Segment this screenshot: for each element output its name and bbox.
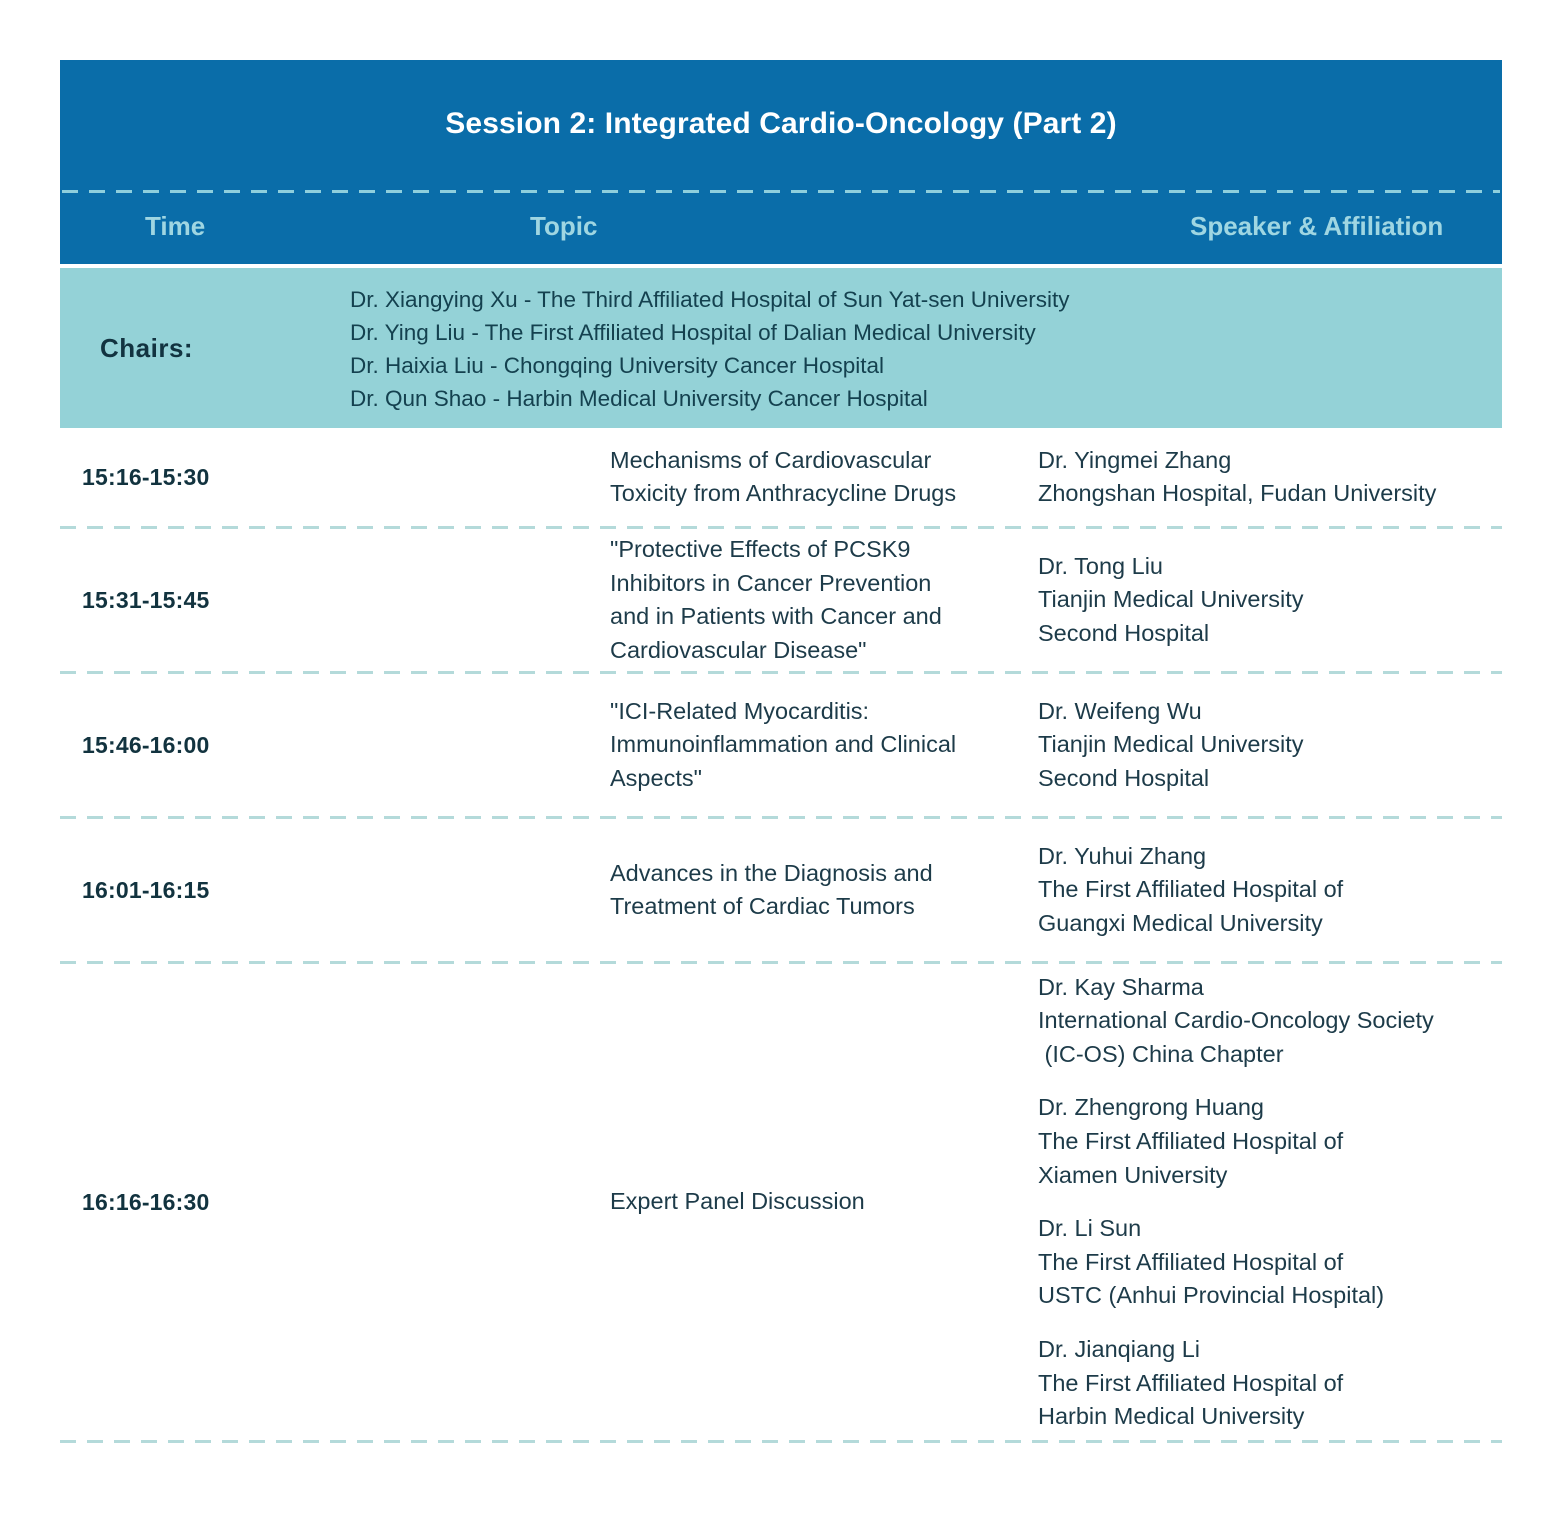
table-row: 16:01-16:15 Advances in the Diagnosis an…: [60, 819, 1502, 961]
row-topic: "ICI-Related Myocarditis: Immunoinflamma…: [335, 695, 1000, 796]
row-time: 15:31-15:45: [60, 587, 335, 614]
chairs-label-cell: Chairs:: [60, 333, 335, 364]
speaker-affiliation: Tianjin Medical University: [1038, 728, 1492, 762]
row-time: 16:16-16:30: [60, 1189, 335, 1216]
speaker-affiliation: Guangxi Medical University: [1038, 907, 1492, 941]
speaker-name: Dr. Weifeng Wu: [1038, 695, 1492, 729]
session-header: Session 2: Integrated Cardio-Oncology (P…: [60, 60, 1502, 264]
speaker-name: Dr. Yingmei Zhang: [1038, 444, 1492, 478]
speaker-affiliation: (IC-OS) China Chapter: [1038, 1038, 1492, 1072]
row-topic: Expert Panel Discussion: [335, 1185, 1000, 1219]
row-time: 15:16-15:30: [60, 464, 335, 491]
chair-item: Dr. Qun Shao - Harbin Medical University…: [350, 382, 1070, 415]
speaker-block: Dr. Yingmei Zhang Zhongshan Hospital, Fu…: [1038, 444, 1492, 511]
speaker-block: Dr. Tong Liu Tianjin Medical University …: [1038, 550, 1492, 651]
table-row: 16:16-16:30 Expert Panel Discussion Dr. …: [60, 964, 1502, 1440]
schedule-page: Session 2: Integrated Cardio-Oncology (P…: [0, 0, 1562, 1536]
column-header-time: Time: [60, 211, 335, 242]
session-schedule-table: Session 2: Integrated Cardio-Oncology (P…: [60, 60, 1502, 1443]
row-speaker-cell: Dr. Weifeng Wu Tianjin Medical Universit…: [1000, 695, 1502, 796]
row-topic: "Protective Effects of PCSK9 Inhibitors …: [335, 533, 1000, 667]
chair-item: Dr. Ying Liu - The First Affiliated Hosp…: [350, 316, 1070, 349]
page-title: Session 2: Integrated Cardio-Oncology (P…: [60, 60, 1502, 190]
chair-item: Dr. Xiangying Xu - The Third Affiliated …: [350, 283, 1070, 316]
speaker-name: Dr. Yuhui Zhang: [1038, 840, 1492, 874]
table-row: 15:31-15:45 "Protective Effects of PCSK9…: [60, 529, 1502, 671]
speaker-block: Dr. Kay Sharma International Cardio-Onco…: [1038, 971, 1492, 1072]
row-speaker-cell: Dr. Kay Sharma International Cardio-Onco…: [1000, 971, 1502, 1434]
speaker-affiliation: Tianjin Medical University: [1038, 583, 1492, 617]
speaker-name: Dr. Jianqiang Li: [1038, 1333, 1492, 1367]
speaker-block: Dr. Jianqiang Li The First Affiliated Ho…: [1038, 1333, 1492, 1434]
speaker-name: Dr. Kay Sharma: [1038, 971, 1492, 1005]
chairs-label: Chairs:: [60, 333, 335, 364]
row-topic: Mechanisms of Cardiovascular Toxicity fr…: [335, 444, 1000, 511]
speaker-affiliation: International Cardio-Oncology Society: [1038, 1004, 1492, 1038]
speaker-name: Dr. Li Sun: [1038, 1212, 1492, 1246]
row-speaker-cell: Dr. Yingmei Zhang Zhongshan Hospital, Fu…: [1000, 444, 1502, 511]
row-speaker-cell: Dr. Yuhui Zhang The First Affiliated Hos…: [1000, 840, 1502, 941]
row-divider: [60, 1440, 1502, 1443]
row-topic: Advances in the Diagnosis and Treatment …: [335, 857, 1000, 924]
speaker-block: Dr. Weifeng Wu Tianjin Medical Universit…: [1038, 695, 1492, 796]
row-time: 16:01-16:15: [60, 877, 335, 904]
speaker-affiliation: Second Hospital: [1038, 762, 1492, 796]
speaker-affiliation: Xiamen University: [1038, 1159, 1492, 1193]
speaker-name: Dr. Tong Liu: [1038, 550, 1492, 584]
chairs-list: Dr. Xiangying Xu - The Third Affiliated …: [335, 281, 1070, 415]
table-row: 15:16-15:30 Mechanisms of Cardiovascular…: [60, 428, 1502, 526]
row-speaker-cell: Dr. Tong Liu Tianjin Medical University …: [1000, 550, 1502, 651]
speaker-block: Dr. Zhengrong Huang The First Affiliated…: [1038, 1091, 1492, 1192]
column-header-speaker: Speaker & Affiliation: [1000, 211, 1502, 242]
speaker-affiliation: USTC (Anhui Provincial Hospital): [1038, 1279, 1492, 1313]
speaker-affiliation: Zhongshan Hospital, Fudan University: [1038, 477, 1492, 511]
speaker-affiliation: The First Affiliated Hospital of: [1038, 1125, 1492, 1159]
speaker-block: Dr. Li Sun The First Affiliated Hospital…: [1038, 1212, 1492, 1313]
row-time: 15:46-16:00: [60, 732, 335, 759]
speaker-affiliation: The First Affiliated Hospital of: [1038, 1246, 1492, 1280]
speaker-affiliation: Harbin Medical University: [1038, 1400, 1492, 1434]
speaker-block: Dr. Yuhui Zhang The First Affiliated Hos…: [1038, 840, 1492, 941]
speaker-affiliation: Second Hospital: [1038, 617, 1492, 651]
table-row: 15:46-16:00 "ICI-Related Myocarditis: Im…: [60, 674, 1502, 816]
speaker-affiliation: The First Affiliated Hospital of: [1038, 1367, 1492, 1401]
chair-item: Dr. Haixia Liu - Chongqing University Ca…: [350, 349, 1070, 382]
column-header-row: Time Topic Speaker & Affiliation: [60, 193, 1502, 264]
column-header-topic: Topic: [335, 211, 1000, 242]
speaker-affiliation: The First Affiliated Hospital of: [1038, 873, 1492, 907]
chairs-row: Chairs: Dr. Xiangying Xu - The Third Aff…: [60, 268, 1502, 428]
speaker-name: Dr. Zhengrong Huang: [1038, 1091, 1492, 1125]
